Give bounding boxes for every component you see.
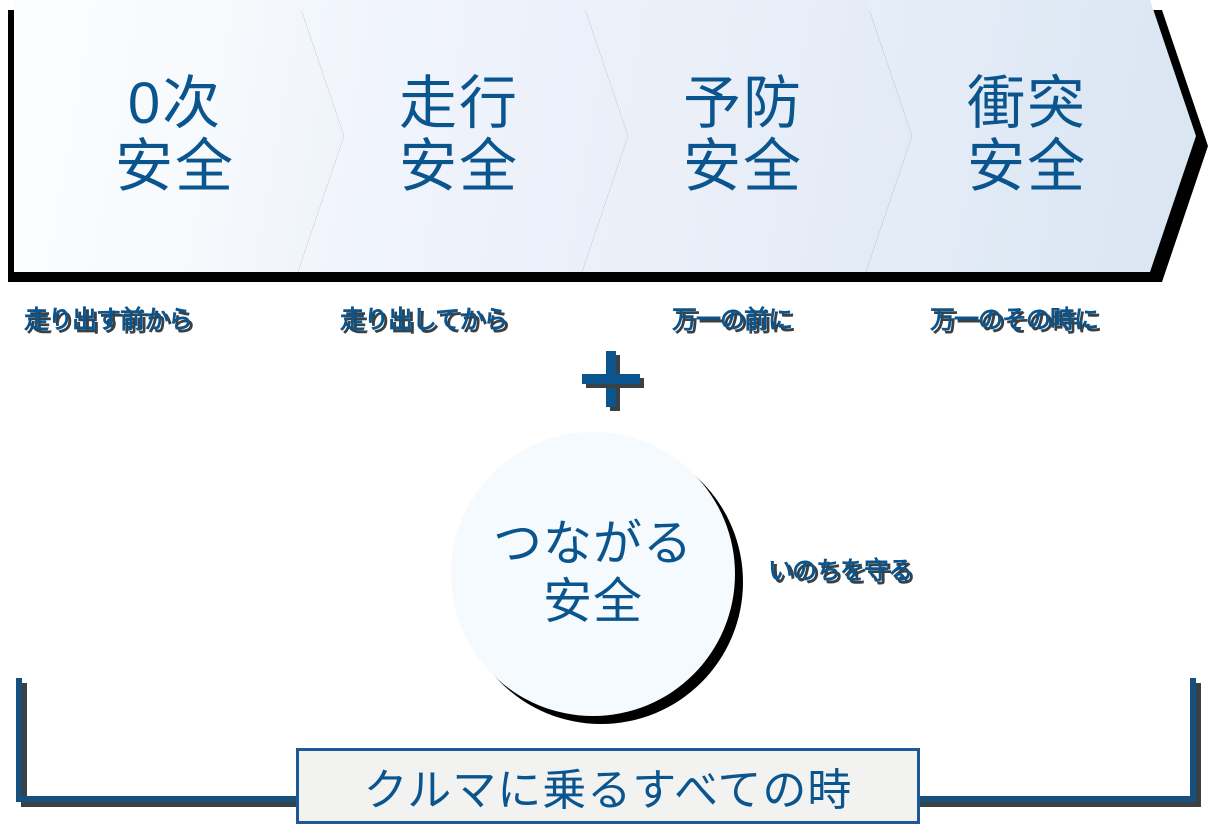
stage-chevron-yobo-anzen[interactable]: 予防 安全 — [582, 0, 912, 272]
stage-label-2: 走行 安全 — [399, 73, 519, 198]
stage-label-1: 0次 安全 — [115, 73, 235, 198]
stage-chevron-soko-anzen[interactable]: 走行 安全 — [298, 0, 628, 272]
plus-icon — [578, 349, 644, 409]
stage-label-3: 予防 安全 — [683, 73, 803, 198]
stage-caption-row: 走り出す前から 走り出してから 万一の前に 万一のその時に — [0, 300, 1216, 336]
stage-caption-2: 走り出してから — [340, 300, 507, 336]
stage-chevron-zero-ji-anzen[interactable]: 0次 安全 — [14, 0, 344, 272]
stage-chevron-shototsu-anzen[interactable]: 衝突 安全 — [866, 0, 1196, 272]
scope-label-box[interactable]: クルマに乗るすべての時 — [296, 748, 920, 824]
stage-label-4: 衝突 安全 — [967, 73, 1087, 198]
side-note-protect-life: いのちを守る — [768, 551, 912, 587]
bracket-left-arm — [16, 678, 22, 802]
circle-label: つながる 安全 — [493, 516, 693, 632]
stage-caption-3: 万一の前に — [672, 300, 792, 336]
safety-stage-chevron-band: 0次 安全 走行 安全 予防 安全 衝突 安全 — [0, 0, 1216, 290]
scope-label-text: クルマに乗るすべての時 — [364, 754, 853, 818]
stage-caption-4: 万一のその時に — [930, 300, 1098, 336]
stage-caption-1: 走り出す前から — [24, 300, 192, 336]
bracket-right-arm — [1190, 678, 1196, 802]
plus-icon-horizontal-bar — [582, 374, 640, 384]
chevron-main-layer: 0次 安全 走行 安全 予防 安全 衝突 安全 — [0, 0, 1200, 272]
